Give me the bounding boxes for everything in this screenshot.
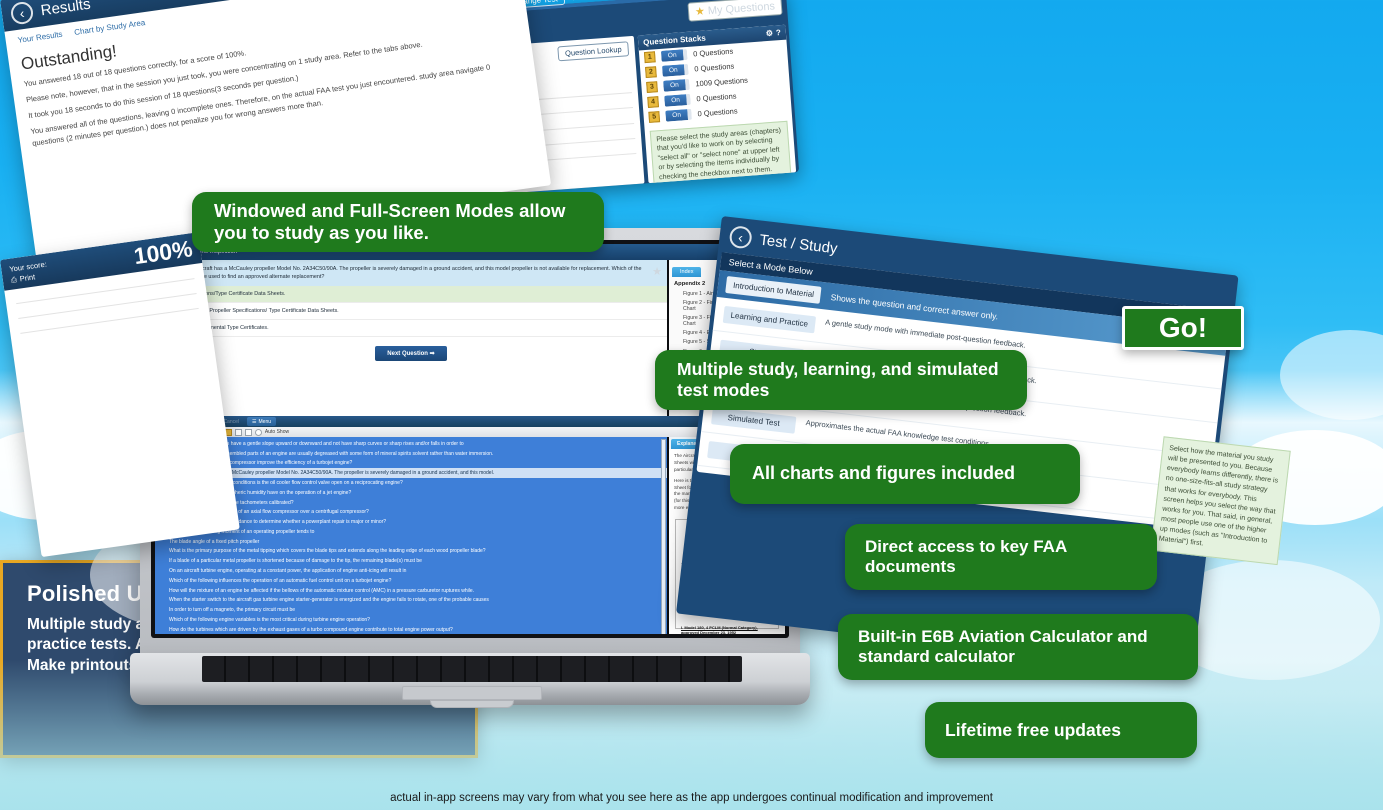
- stack-toggle[interactable]: On: [661, 49, 688, 62]
- menu-button[interactable]: ☰Menu: [247, 417, 276, 426]
- star-icon[interactable]: ★: [652, 264, 662, 281]
- list-item[interactable]: How do the turbines which are driven by …: [157, 625, 667, 634]
- mode-name: Simulated Test: [711, 407, 796, 434]
- stack-number: 3: [646, 81, 658, 93]
- next-question-label: Next Question: [387, 351, 428, 357]
- list-item[interactable]: Which of the following influences the op…: [157, 576, 667, 586]
- divider: [18, 293, 196, 319]
- callout-windowed-fullscreen: Windowed and Full-Screen Modes allow you…: [192, 192, 604, 252]
- answer-option[interactable]: Aircraft Engine and Propeller Specificat…: [155, 303, 667, 320]
- vertical-scrollbar[interactable]: [661, 439, 666, 634]
- callout-text: Built-in E6B Aviation Calculator and sta…: [858, 627, 1178, 667]
- list-item[interactable]: What is the primary purpose of the metal…: [157, 547, 667, 557]
- callout-text: Lifetime free updates: [945, 720, 1121, 741]
- callout-text: Direct access to key FAA documents: [865, 537, 1137, 577]
- answer-option[interactable]: Summary of Supplemental Type Certificate…: [155, 320, 667, 337]
- stack-number: 5: [648, 111, 660, 123]
- question-pane: A Cessna 180 aircraft has a McCauley pro…: [155, 260, 667, 416]
- stack-count: 0 Questions: [697, 106, 738, 118]
- list-item[interactable]: When the starter switch to the aircraft …: [157, 596, 667, 606]
- go-button[interactable]: Go!: [1122, 306, 1244, 350]
- list-item[interactable]: Which of the following engine variables …: [157, 615, 667, 625]
- stack-number: 4: [647, 96, 659, 108]
- app-statusbar: ■ Question Stack Auto Show Mode Normal: [155, 427, 785, 437]
- study-areas-help-note: Please select the study areas (chapters)…: [650, 121, 792, 183]
- help-icon[interactable]: ?: [776, 28, 782, 37]
- question-lookup-button[interactable]: Question Lookup: [558, 41, 630, 61]
- stack-count: 0 Questions: [694, 62, 735, 74]
- index-tab[interactable]: Index: [672, 267, 701, 277]
- printer-icon: ⎙: [10, 274, 18, 286]
- callout-study-modes: Multiple study, learning, and simulated …: [655, 350, 1027, 410]
- callout-text: Multiple study, learning, and simulated …: [677, 359, 1005, 400]
- laptop-keyboard: [202, 656, 742, 682]
- stack-count: 1009 Questions: [695, 76, 748, 89]
- callout-e6b-calculator: Built-in E6B Aviation Calculator and sta…: [838, 614, 1198, 680]
- list-item[interactable]: In order to turn off a magneto, the prim…: [157, 605, 667, 615]
- chevron-left-icon[interactable]: ‹: [10, 1, 35, 26]
- laptop-trackpad: [402, 686, 542, 700]
- callout-text: Windowed and Full-Screen Modes allow you…: [214, 200, 582, 244]
- stack-button-4[interactable]: [235, 429, 242, 436]
- list-item[interactable]: How does a dual axial flow compressor im…: [157, 459, 667, 469]
- question-stacks-title: Question Stacks: [643, 34, 706, 48]
- app-toolbar: ▤Save ⎙Print Cancel ☰Menu ◷ Time 00:00:1…: [155, 416, 785, 427]
- autoshow-label: Auto Show: [265, 429, 289, 435]
- score-value: 100%: [132, 237, 193, 268]
- stack-button-5[interactable]: [245, 429, 252, 436]
- callout-charts-figures: All charts and figures included: [730, 444, 1080, 504]
- stack-toggle[interactable]: On: [665, 109, 692, 122]
- list-item[interactable]: It is desirable that fuel lines have a g…: [157, 439, 667, 449]
- stack-toggle[interactable]: On: [663, 79, 690, 92]
- gear-icon[interactable]: ⚙: [766, 29, 774, 39]
- answer-option[interactable]: Aircraft Specifications/Type Certificate…: [155, 286, 667, 303]
- page-title: Test / Study: [759, 231, 839, 257]
- callout-text: All charts and figures included: [752, 463, 1015, 484]
- hamburger-icon: ☰: [252, 419, 256, 425]
- test-study-help-note: Select how the material you study will b…: [1150, 436, 1290, 565]
- callout-faa-documents: Direct access to key FAA documents: [845, 524, 1157, 590]
- mode-name: Learning and Practice: [723, 306, 816, 333]
- stack-toggle[interactable]: On: [664, 94, 691, 107]
- callout-lifetime-updates: Lifetime free updates: [925, 702, 1197, 758]
- autoshow-checkbox[interactable]: [255, 429, 262, 436]
- stack-count: 0 Questions: [696, 91, 737, 103]
- question-body: A Cessna 180 aircraft has a McCauley pro…: [161, 266, 642, 280]
- chevron-left-icon[interactable]: ‹: [728, 225, 752, 249]
- go-button-label: Go!: [1159, 311, 1207, 344]
- stack-number: 1: [644, 51, 656, 63]
- divider: [20, 308, 198, 334]
- list-item[interactable]: The blade angle of a fixed pitch propell…: [157, 537, 667, 547]
- list-item[interactable]: During overhaul, the disassembled parts …: [157, 449, 667, 459]
- score-card-window[interactable]: Your score: ⎙ Print 100%: [0, 232, 240, 557]
- list-item[interactable]: On an aircraft turbine engine, operating…: [157, 566, 667, 576]
- page-title: Results: [40, 0, 92, 19]
- stack-toggle[interactable]: On: [662, 64, 689, 77]
- list-item[interactable]: If a blade of a particular metal propell…: [157, 556, 667, 566]
- print-button[interactable]: Print: [19, 271, 36, 284]
- faa-model-line: I. Model 180, 4 PCLM (Normal Category), …: [681, 625, 773, 634]
- list-item[interactable]: How will the mixture of an engine be aff…: [157, 586, 667, 596]
- laptop-front-notch: [430, 700, 514, 708]
- question-list-pane[interactable]: It is desirable that fuel lines have a g…: [155, 437, 667, 634]
- next-question-button[interactable]: Next Question ➡: [375, 346, 446, 361]
- footer-disclaimer: actual in-app screens may vary from what…: [0, 792, 1383, 804]
- stack-number: 2: [645, 66, 657, 78]
- stack-count: 0 Questions: [693, 47, 734, 59]
- question-text: A Cessna 180 aircraft has a McCauley pro…: [155, 260, 667, 286]
- question-stacks-panel: Question Stacks ⚙ ? 1On0 Questions 2On0 …: [638, 25, 796, 183]
- list-item-selected[interactable]: A Cessna 180 aircraft has a McCauley pro…: [157, 468, 667, 478]
